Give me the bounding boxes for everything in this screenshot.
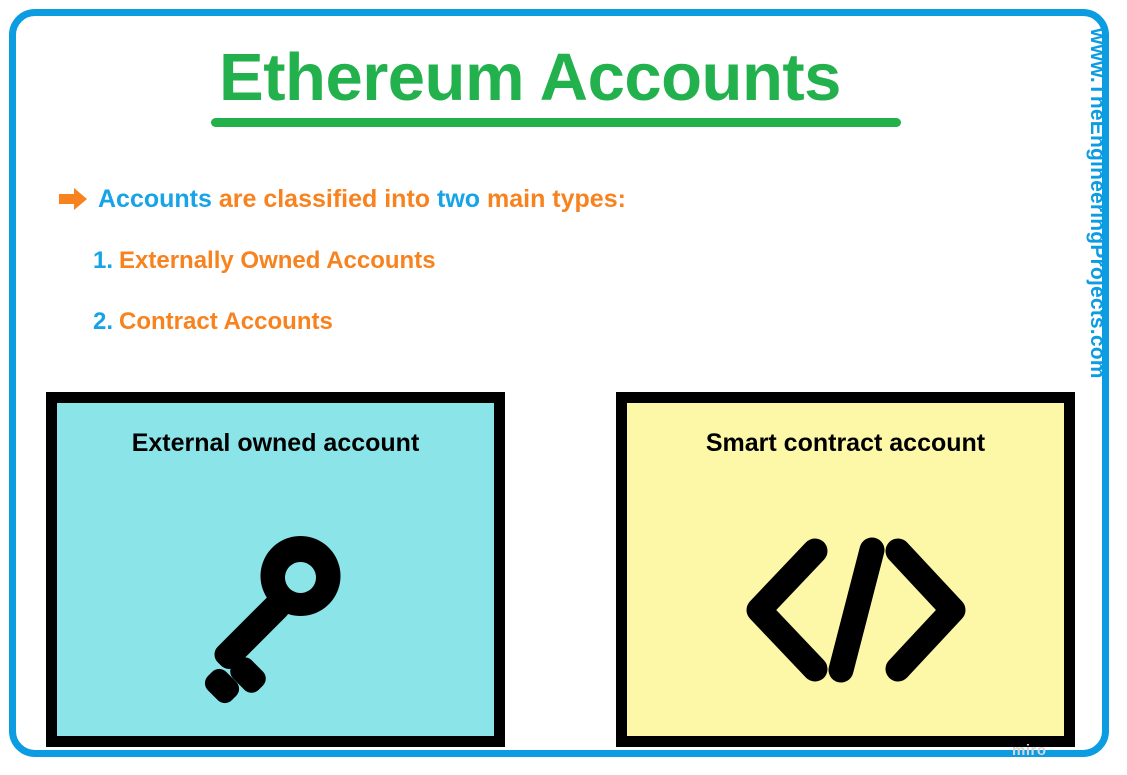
card-title: External owned account	[57, 429, 494, 458]
title-underline-bar	[211, 118, 901, 127]
page-title-block: Ethereum Accounts	[0, 44, 1060, 111]
page-title: Ethereum Accounts	[0, 44, 1060, 111]
code-brackets-icon	[741, 537, 967, 688]
card-artwork	[57, 491, 494, 726]
list-item-label: Externally Owned Accounts	[119, 247, 436, 274]
slide-canvas: Ethereum Accounts Accounts are classifie…	[0, 0, 1127, 775]
bullet-segment-accounts: Accounts	[98, 185, 212, 213]
site-url-text: www.TheEngineeringProjects.com	[1085, 28, 1109, 54]
key-icon	[169, 517, 359, 712]
list-item-number: 1.	[93, 247, 113, 274]
card-artwork	[627, 491, 1064, 726]
miro-watermark: miro	[1012, 742, 1047, 759]
intro-bullet-row: Accounts are classified into two main ty…	[58, 186, 626, 212]
right-arrow-bullet-icon	[58, 186, 88, 212]
card-external-owned-account: External owned account	[46, 392, 505, 747]
list-item: 2.Contract Accounts	[93, 310, 333, 334]
card-title: Smart contract account	[627, 429, 1064, 458]
card-smart-contract-account: Smart contract account	[616, 392, 1075, 747]
list-item-number: 2.	[93, 308, 113, 335]
site-url-vertical: www.TheEngineeringProjects.com	[1087, 28, 1113, 458]
bullet-segment-classified: are classified into	[212, 185, 437, 213]
bullet-segment-types: main types:	[480, 185, 626, 213]
intro-bullet-text: Accounts are classified into two main ty…	[98, 187, 626, 212]
list-item: 1.Externally Owned Accounts	[93, 249, 436, 273]
bullet-segment-two: two	[437, 185, 480, 213]
list-item-label: Contract Accounts	[119, 308, 333, 335]
